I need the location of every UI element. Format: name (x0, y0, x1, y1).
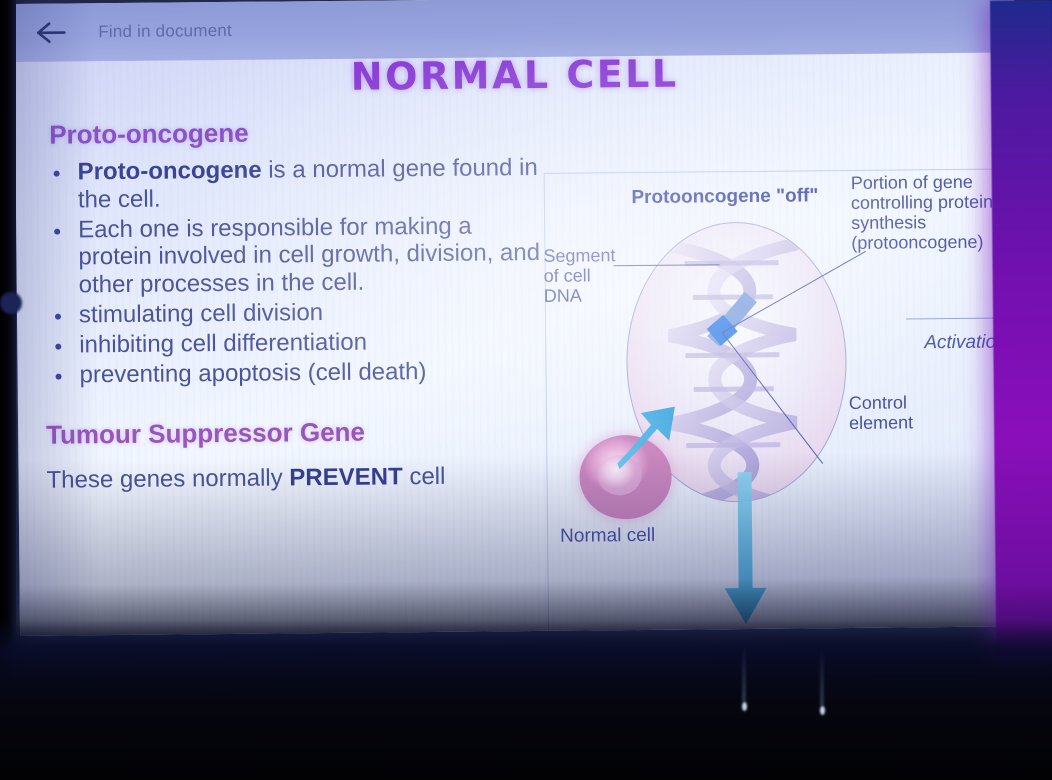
list-item: inhibiting cell differentiation (45, 327, 545, 360)
list-item: Each one is responsible for making a pro… (44, 212, 545, 300)
light-flare-dot (742, 702, 747, 711)
list-item: preventing apoptosis (cell death) (45, 357, 545, 390)
left-text-column: Proto-oncogene Proto-oncogene is a norma… (43, 115, 547, 495)
screen-surface: Find in document NORMAL CELL Proto-oncog… (14, 0, 1020, 636)
paragraph-text-before: These genes normally (46, 464, 289, 493)
bullet-text: Each one is responsible for making a pro… (78, 212, 540, 298)
up-arrow-icon (617, 401, 688, 472)
light-flare-dot (820, 706, 825, 715)
paragraph-emphasis: PREVENT (289, 463, 403, 491)
dark-room-foreground (0, 620, 1052, 780)
left-edge-artifact (0, 292, 22, 314)
list-item: Proto-oncogene is a normal gene found in… (43, 154, 544, 214)
label-segment-of-cell-dna: Segment of cell DNA (543, 245, 616, 306)
back-arrow-icon[interactable] (34, 17, 68, 47)
bullet-text: inhibiting cell differentiation (79, 329, 367, 359)
tumour-suppressor-gene-heading: Tumour Suppressor Gene (46, 415, 546, 451)
proto-oncogene-heading: Proto-oncogene (49, 115, 543, 151)
light-flare-tail (821, 648, 823, 706)
label-control-element: Control element (849, 392, 913, 433)
label-normal-cell: Normal cell (560, 525, 655, 548)
down-arrow-icon (722, 472, 770, 632)
light-flare-tail (743, 644, 745, 702)
slide-content: NORMAL CELL Proto-oncogene Proto-oncogen… (15, 52, 1020, 636)
bullet-text: stimulating cell division (79, 299, 323, 328)
label-activation: Activatio (924, 332, 996, 355)
projected-slide-photo: Find in document NORMAL CELL Proto-oncog… (0, 0, 1052, 780)
screen-left-bezel (0, 0, 16, 680)
protooncogene-diagram-panel: Protooncogene "off" (544, 168, 1020, 631)
slide-title: NORMAL CELL (15, 48, 1015, 102)
label-portion-of-gene: Portion of gene controlling protein synt… (851, 172, 994, 254)
bullet-lead-text: Proto-oncogene (77, 157, 261, 186)
proto-oncogene-bullet-list: Proto-oncogene is a normal gene found in… (43, 154, 545, 389)
bullet-text: preventing apoptosis (cell death) (79, 358, 426, 388)
screen-right-edge-glow (990, 0, 1052, 663)
list-item: stimulating cell division (45, 297, 545, 330)
tumour-suppressor-paragraph: These genes normally PREVENT cell (46, 462, 546, 496)
paragraph-text-after: cell (403, 463, 446, 490)
find-in-document-label[interactable]: Find in document (98, 21, 232, 42)
